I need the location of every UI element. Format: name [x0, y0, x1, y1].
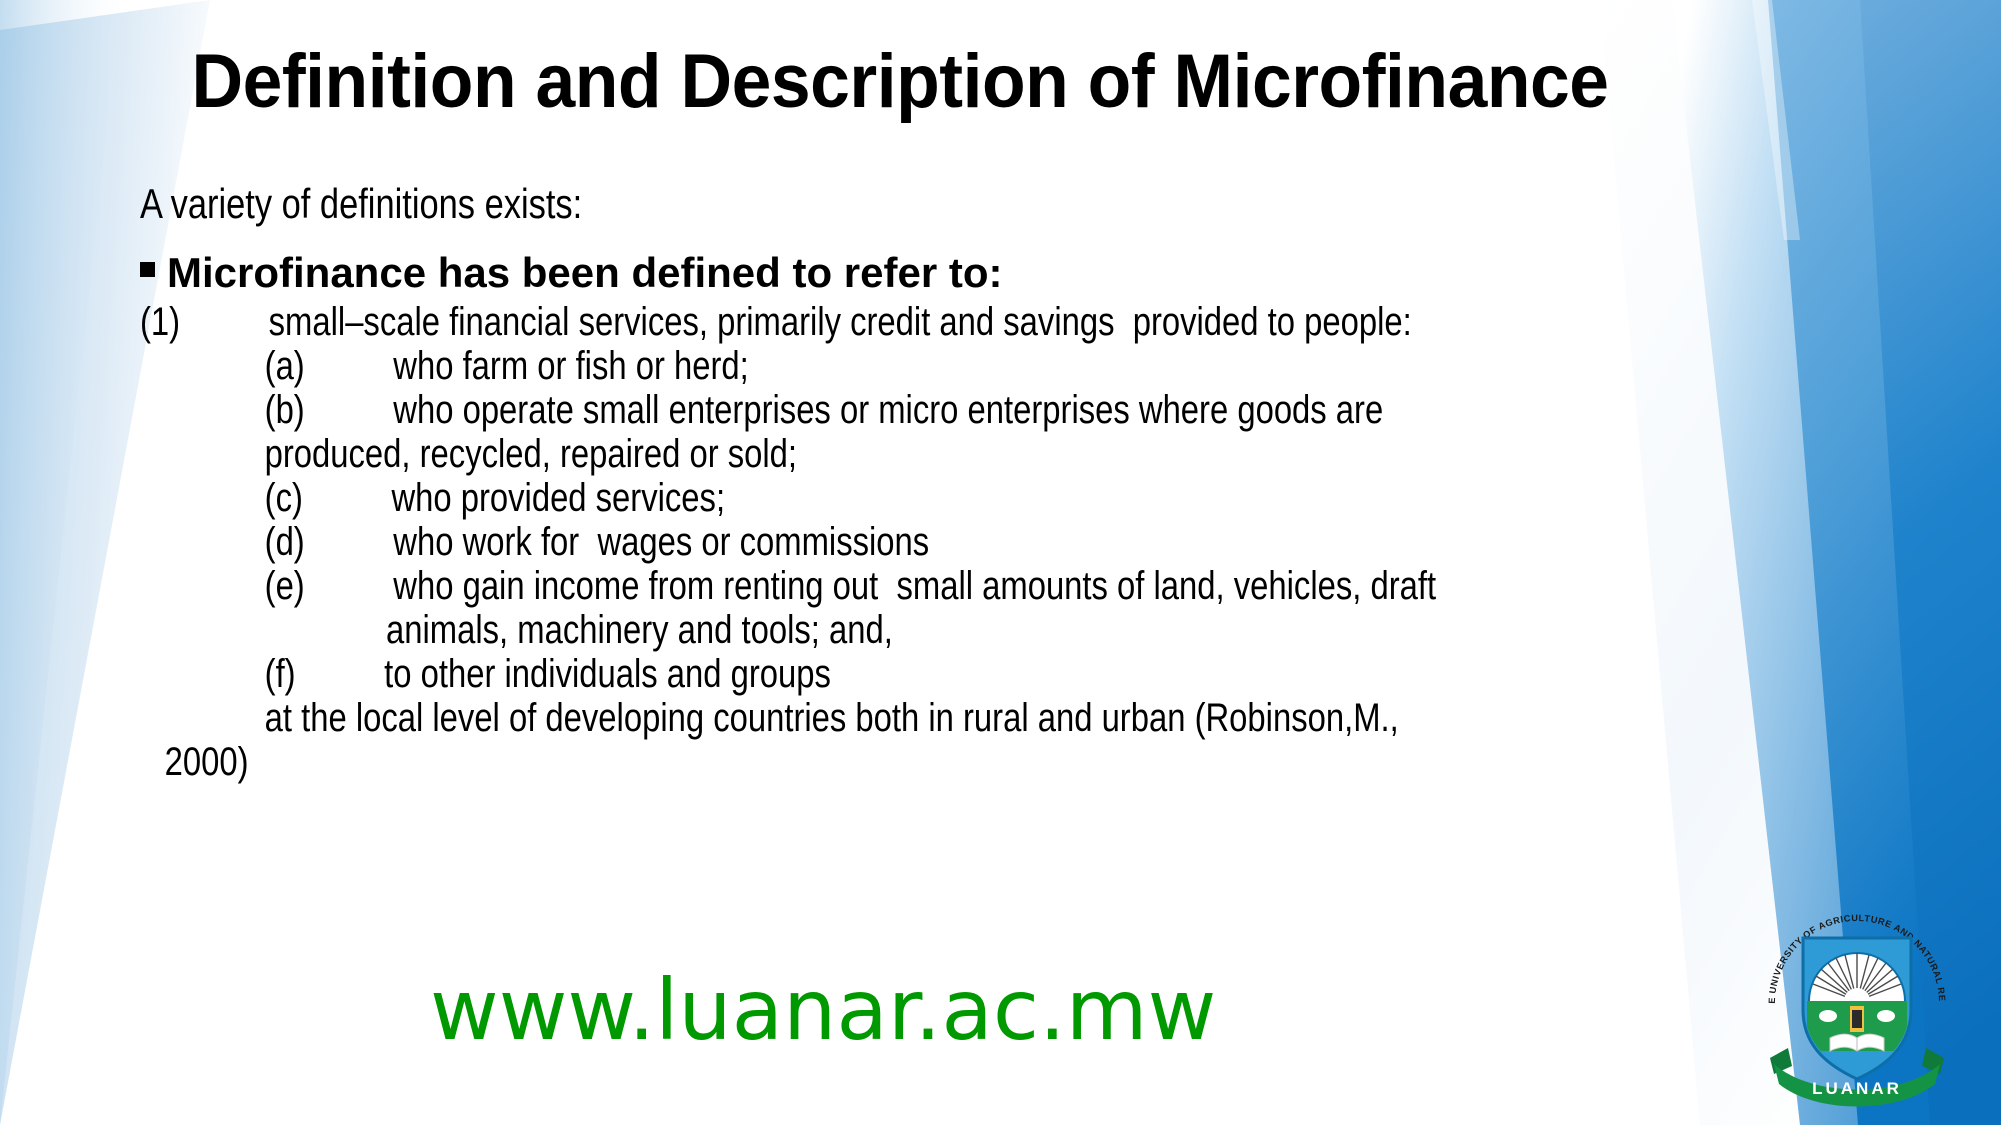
list-item: (1)small–scale financial services, prima… — [140, 300, 1961, 344]
list-item: (a)who farm or fish or herd; — [140, 344, 2001, 388]
list-item: (e)who gain income from renting out smal… — [140, 564, 2001, 608]
logo-banner-text: LUANAR — [1812, 1079, 1902, 1098]
website-url[interactable]: www.luanar.ac.mw — [430, 968, 1216, 1052]
lead-text: A variety of definitions exists: — [140, 178, 1961, 230]
list-text: who farm or fish or herd; — [393, 344, 748, 388]
luanar-logo-svg: LILONGWE UNIVERSITY OF AGRICULTURE AND N… — [1752, 898, 1962, 1108]
closing-line: at the local level of developing countri… — [140, 696, 2001, 740]
list-marker: (c) — [265, 476, 303, 520]
list-item: (d)who work for wages or commissions — [140, 520, 2001, 564]
list-text: who provided services; — [391, 476, 725, 520]
list-text: produced, recycled, repaired or sold; — [265, 432, 797, 476]
slide-body: A variety of definitions exists: Microfi… — [140, 178, 1960, 784]
list-item-continuation: produced, recycled, repaired or sold; — [140, 432, 2001, 476]
list-item: (b)who operate small enterprises or micr… — [140, 388, 2001, 432]
list-item: (f)to other individuals and groups — [140, 652, 2001, 696]
list-text: at the local level of developing countri… — [265, 696, 1399, 740]
square-bullet-icon — [140, 262, 155, 277]
bullet-item: Microfinance has been defined to refer t… — [140, 248, 1960, 298]
list-text: who work for wages or commissions — [393, 520, 929, 564]
luanar-logo: LILONGWE UNIVERSITY OF AGRICULTURE AND N… — [1752, 898, 1962, 1108]
page-title: Definition and Description of Microfinan… — [54, 44, 1746, 120]
list-text: small–scale financial services, primaril… — [269, 300, 1412, 344]
list-item-continuation: animals, machinery and tools; and, — [140, 608, 2001, 652]
left-pale-wedge — [0, 0, 120, 1125]
bullet-label: Microfinance has been defined to refer t… — [167, 248, 1002, 298]
logo-shield — [1803, 938, 1911, 1079]
list-marker: (1) — [140, 300, 180, 344]
list-text: who gain income from renting out small a… — [393, 564, 1436, 608]
list-text: animals, machinery and tools; and, — [386, 608, 893, 652]
list-marker: (d) — [265, 520, 305, 564]
list-text: 2000) — [165, 740, 249, 784]
list-text: to other individuals and groups — [384, 652, 831, 696]
list-marker: (b) — [265, 388, 305, 432]
citation-year: 2000) — [140, 740, 1985, 784]
list-marker: (f) — [265, 652, 296, 696]
slide-canvas: Definition and Description of Microfinan… — [0, 0, 2001, 1125]
list-text: who operate small enterprises or micro e… — [393, 388, 1383, 432]
list-item: (c)who provided services; — [140, 476, 2001, 520]
list-marker: (a) — [265, 344, 305, 388]
list-marker: (e) — [265, 564, 305, 608]
